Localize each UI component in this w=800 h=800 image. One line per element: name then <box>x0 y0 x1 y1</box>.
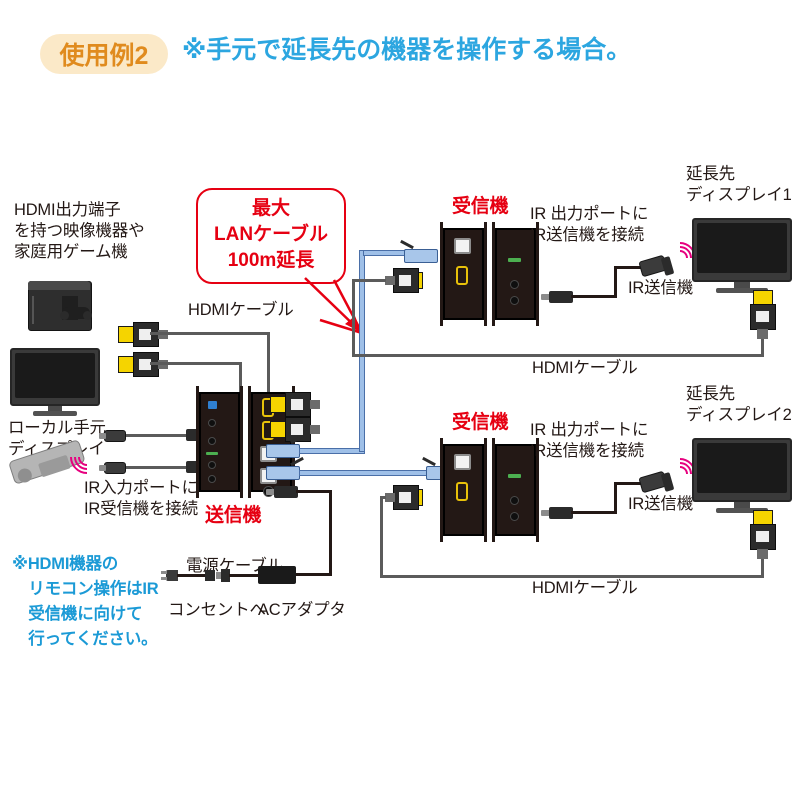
label-ir-emitter-2: IR送信機 <box>628 494 693 515</box>
callout-balloon-text: 最大 LANケーブル 100m延長 <box>196 196 346 274</box>
label-ir-input: IR入力ポートに IR受信機を接続 <box>84 478 198 520</box>
label-ir-emitter-1: IR送信機 <box>628 278 693 299</box>
label-transmitter: 送信機 <box>205 505 261 526</box>
label-ir-output-1: IR 出力ポートに IR送信機を接続 <box>530 204 648 246</box>
label-hdmi-cable-right-1: HDMIケーブル <box>532 358 638 379</box>
label-ac-adapter: ACアダプタ <box>258 600 346 621</box>
label-hdmi-cable-left: HDMIケーブル <box>188 300 294 321</box>
header-note: ※手元で延長先の機器を操作する場合。 <box>182 40 631 61</box>
label-outlet: コンセントへ <box>168 600 266 621</box>
label-hdmi-cable-right-2: HDMIケーブル <box>532 578 638 599</box>
label-receiver-1: 受信機 <box>452 196 508 217</box>
label-ir-output-2: IR 出力ポートに IR送信機を接続 <box>530 420 648 462</box>
footnote-text: ※HDMI機器の リモコン操作はIR 受信機に向けて 行ってください。 <box>12 552 159 652</box>
label-receiver-2: 受信機 <box>452 412 508 433</box>
label-source-device: HDMI出力端子 を持つ映像機器や 家庭用ゲーム機 <box>14 200 144 263</box>
usage-example-badge-label: 使用例2 <box>40 34 168 74</box>
label-remote-display-2: 延長先 ディスプレイ2 <box>686 384 792 426</box>
diagram-canvas: 使用例2 ※手元で延長先の機器を操作する場合。 HDMI出力端子 を持つ映像機器… <box>0 0 800 800</box>
label-remote-display-1: 延長先 ディスプレイ1 <box>686 164 792 206</box>
